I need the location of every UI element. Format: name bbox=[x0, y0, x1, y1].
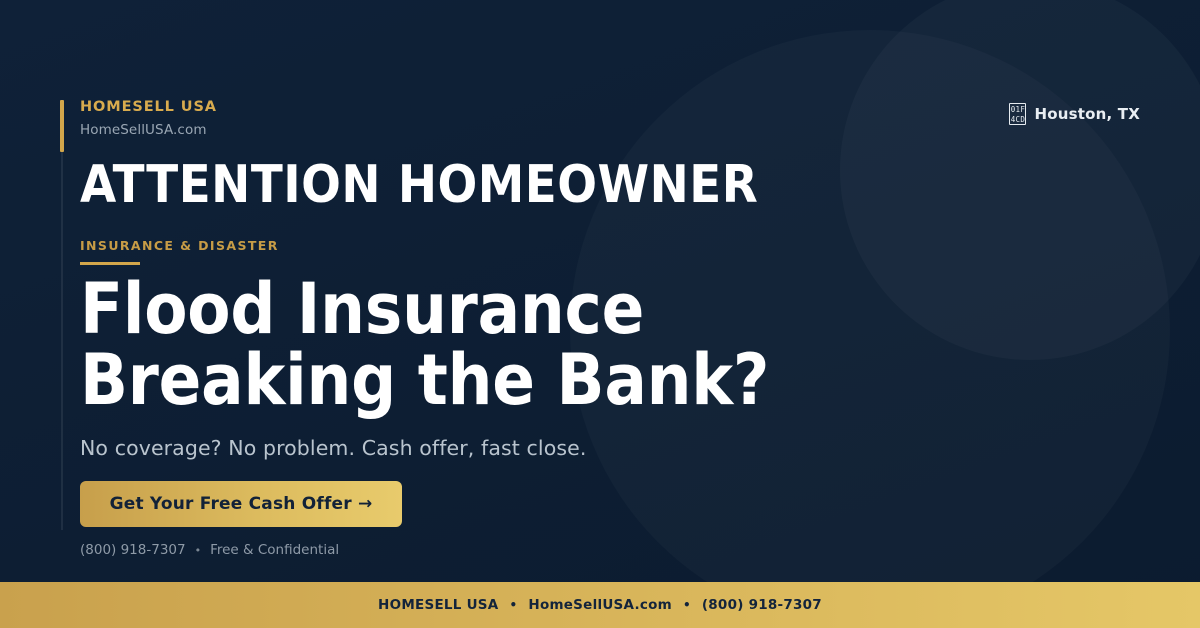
hero-headline: Flood Insurance Breaking the Bank? bbox=[80, 274, 769, 416]
location-badge: 01F 4CD Houston, TX bbox=[1009, 103, 1140, 125]
trust-phone[interactable]: (800) 918-7307 bbox=[80, 542, 186, 558]
footer-separator-dot-2: • bbox=[683, 599, 691, 611]
trust-separator-dot: • bbox=[195, 545, 202, 556]
trust-line: (800) 918-7307 • Free & Confidential bbox=[80, 542, 339, 558]
footer-bar: HOMESELL USA • HomeSellUSA.com • (800) 9… bbox=[0, 582, 1200, 628]
location-label: Houston, TX bbox=[1034, 105, 1140, 123]
hero-subheadline: No coverage? No problem. Cash offer, fas… bbox=[80, 436, 586, 460]
attention-headline: ATTENTION HOMEOWNER bbox=[80, 157, 758, 213]
brand-block: HOMESELL USA HomeSellUSA.com bbox=[80, 100, 217, 138]
category-eyebrow: INSURANCE & DISASTER bbox=[80, 238, 279, 253]
location-pin-icon: 01F 4CD bbox=[1009, 103, 1026, 125]
trust-note: Free & Confidential bbox=[210, 542, 339, 558]
footer-separator-dot-1: • bbox=[509, 599, 517, 611]
get-free-cash-offer-button[interactable]: Get Your Free Cash Offer → bbox=[80, 481, 402, 527]
footer-phone[interactable]: (800) 918-7307 bbox=[702, 597, 822, 613]
ad-creative-banner: HOMESELL USA HomeSellUSA.com 01F 4CD Hou… bbox=[0, 0, 1200, 628]
eyebrow-underline bbox=[80, 262, 140, 265]
background-circle-small bbox=[840, 0, 1200, 360]
footer-brand: HOMESELL USA bbox=[378, 597, 498, 613]
hero-headline-line-1: Flood Insurance bbox=[80, 274, 769, 345]
vertical-accent-rail bbox=[61, 152, 63, 530]
footer-website[interactable]: HomeSellUSA.com bbox=[528, 597, 672, 613]
brand-website: HomeSellUSA.com bbox=[80, 123, 217, 138]
brand-name: HOMESELL USA bbox=[80, 100, 217, 116]
hero-headline-line-2: Breaking the Bank? bbox=[80, 345, 769, 416]
gold-accent-bar bbox=[60, 100, 64, 152]
